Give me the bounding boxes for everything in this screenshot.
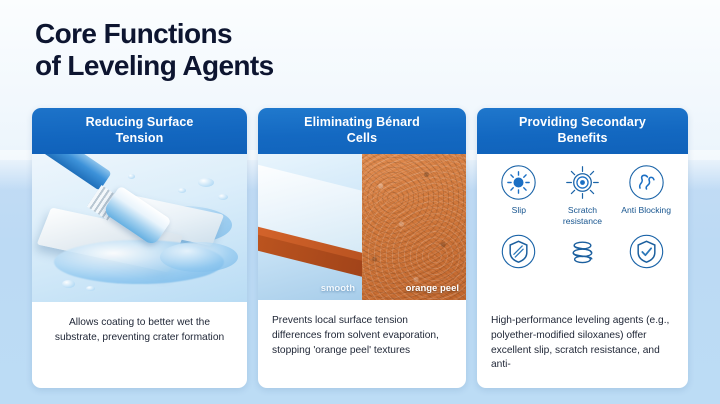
icon-row-primary: Slip xyxy=(487,164,678,226)
benefit-shield-lines xyxy=(488,233,550,274)
benefits-icon-grid: Slip xyxy=(477,154,688,300)
shield-check-icon xyxy=(628,233,665,270)
card-body-text: High-performance leveling agents (e.g., … xyxy=(477,300,688,388)
benefit-anti-blocking: Anti Blocking xyxy=(615,164,677,216)
card-eliminating-benard-cells: Eliminating Bénard Cells smooth orange p… xyxy=(258,108,466,388)
brush-coating-illustration xyxy=(32,154,247,302)
icon-label: Anti Blocking xyxy=(621,205,671,216)
shield-lines-icon xyxy=(500,233,537,270)
icon-label: Scratch resistance xyxy=(563,205,602,226)
icon-label: Slip xyxy=(512,205,526,216)
orange-peel-photo: orange peel xyxy=(362,154,466,300)
sun-burst-icon xyxy=(500,164,537,201)
card-providing-secondary-benefits: Providing Secondary Benefits xyxy=(477,108,688,388)
card-header: Eliminating Bénard Cells xyxy=(258,108,466,154)
smooth-panel-photo: smooth xyxy=(258,154,362,300)
card-header: Providing Secondary Benefits xyxy=(477,108,688,154)
benefit-scratch-resistance: Scratch resistance xyxy=(551,164,613,226)
card-body-text: Allows coating to better wet the substra… xyxy=(32,302,247,388)
benefit-shield-check xyxy=(615,233,677,274)
orange-peel-label: orange peel xyxy=(406,283,459,294)
card-reducing-surface-tension: Reducing Surface Tension Allows coating … xyxy=(32,108,247,388)
cards-container: Reducing Surface Tension Allows coating … xyxy=(32,108,688,388)
target-rings-icon xyxy=(564,164,601,201)
benefit-slip: Slip xyxy=(488,164,550,216)
squiggle-icon xyxy=(628,164,665,201)
icon-row-secondary xyxy=(487,233,678,274)
card-body-text: Prevents local surface tension differenc… xyxy=(258,300,466,388)
card-header: Reducing Surface Tension xyxy=(32,108,247,154)
smooth-label: smooth xyxy=(321,283,355,294)
stacked-discs-icon xyxy=(564,233,601,270)
smooth-vs-orange-peel-illustration: smooth orange peel xyxy=(258,154,466,300)
page-title: Core Functions of Leveling Agents xyxy=(35,18,635,83)
benefit-stacked-discs xyxy=(551,233,613,274)
